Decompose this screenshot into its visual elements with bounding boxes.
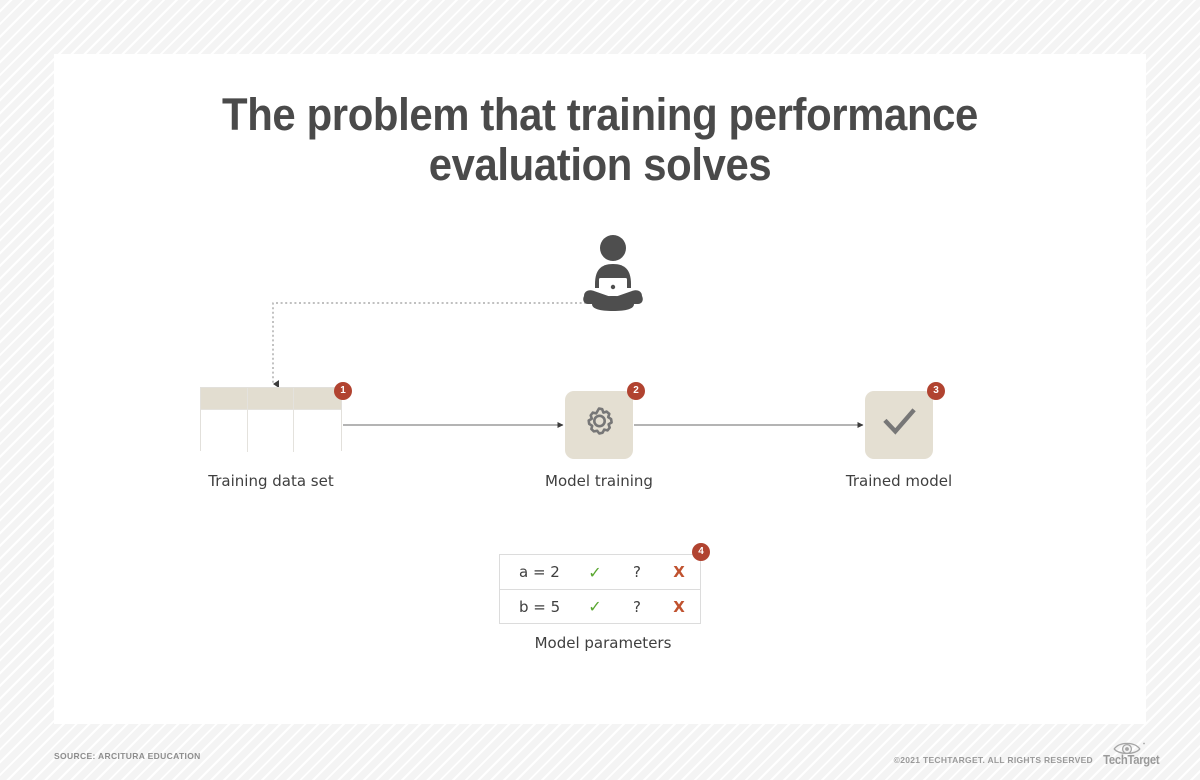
training-data-set-table[interactable] <box>200 387 342 451</box>
param-check-icon: ✓ <box>574 563 616 582</box>
person-with-laptop-icon <box>568 234 658 319</box>
trained-model-box[interactable] <box>865 391 933 459</box>
techtarget-wordmark: TechTarget <box>1103 753 1159 767</box>
data-table-body-cell <box>248 410 295 452</box>
data-table-body-cell <box>201 410 248 452</box>
badge-2: 2 <box>627 382 645 400</box>
param-question-mark: ? <box>616 563 658 581</box>
page-root: The problem that training performance ev… <box>0 0 1200 780</box>
data-table-header-cell <box>201 388 248 410</box>
caption-model-parameters: Model parameters <box>483 634 723 652</box>
techtarget-logo: TechTarget <box>1100 740 1162 768</box>
badge-3: 3 <box>927 382 945 400</box>
table-row: a = 2 ✓ ? X <box>500 555 700 589</box>
connector-actor-to-data <box>273 303 600 384</box>
badge-1: 1 <box>334 382 352 400</box>
model-training-box[interactable] <box>565 391 633 459</box>
copyright-notice: ©2021 TECHTARGET. ALL RIGHTS RESERVED <box>894 755 1093 765</box>
param-cross-icon: X <box>658 598 700 616</box>
data-table-header-cell <box>248 388 295 410</box>
gear-icon <box>579 403 619 448</box>
data-table-grid <box>200 387 342 451</box>
param-expression: b = 5 <box>500 598 574 616</box>
param-expression: a = 2 <box>500 563 574 581</box>
caption-model-training: Model training <box>499 472 699 490</box>
diagram: 1 Training data set 2 Model training <box>54 54 1146 724</box>
model-parameters-table[interactable]: a = 2 ✓ ? X b = 5 ✓ ? X <box>499 554 701 624</box>
caption-trained-model: Trained model <box>799 472 999 490</box>
badge-4: 4 <box>692 543 710 561</box>
content-card: The problem that training performance ev… <box>54 54 1146 724</box>
data-table-body-cell <box>294 410 341 452</box>
check-icon <box>878 402 920 449</box>
param-question-mark: ? <box>616 598 658 616</box>
param-cross-icon: X <box>658 563 700 581</box>
caption-training-data-set: Training data set <box>171 472 371 490</box>
table-row: b = 5 ✓ ? X <box>500 589 700 623</box>
param-check-icon: ✓ <box>574 597 616 616</box>
source-credit: SOURCE: ARCITURA EDUCATION <box>54 751 201 761</box>
